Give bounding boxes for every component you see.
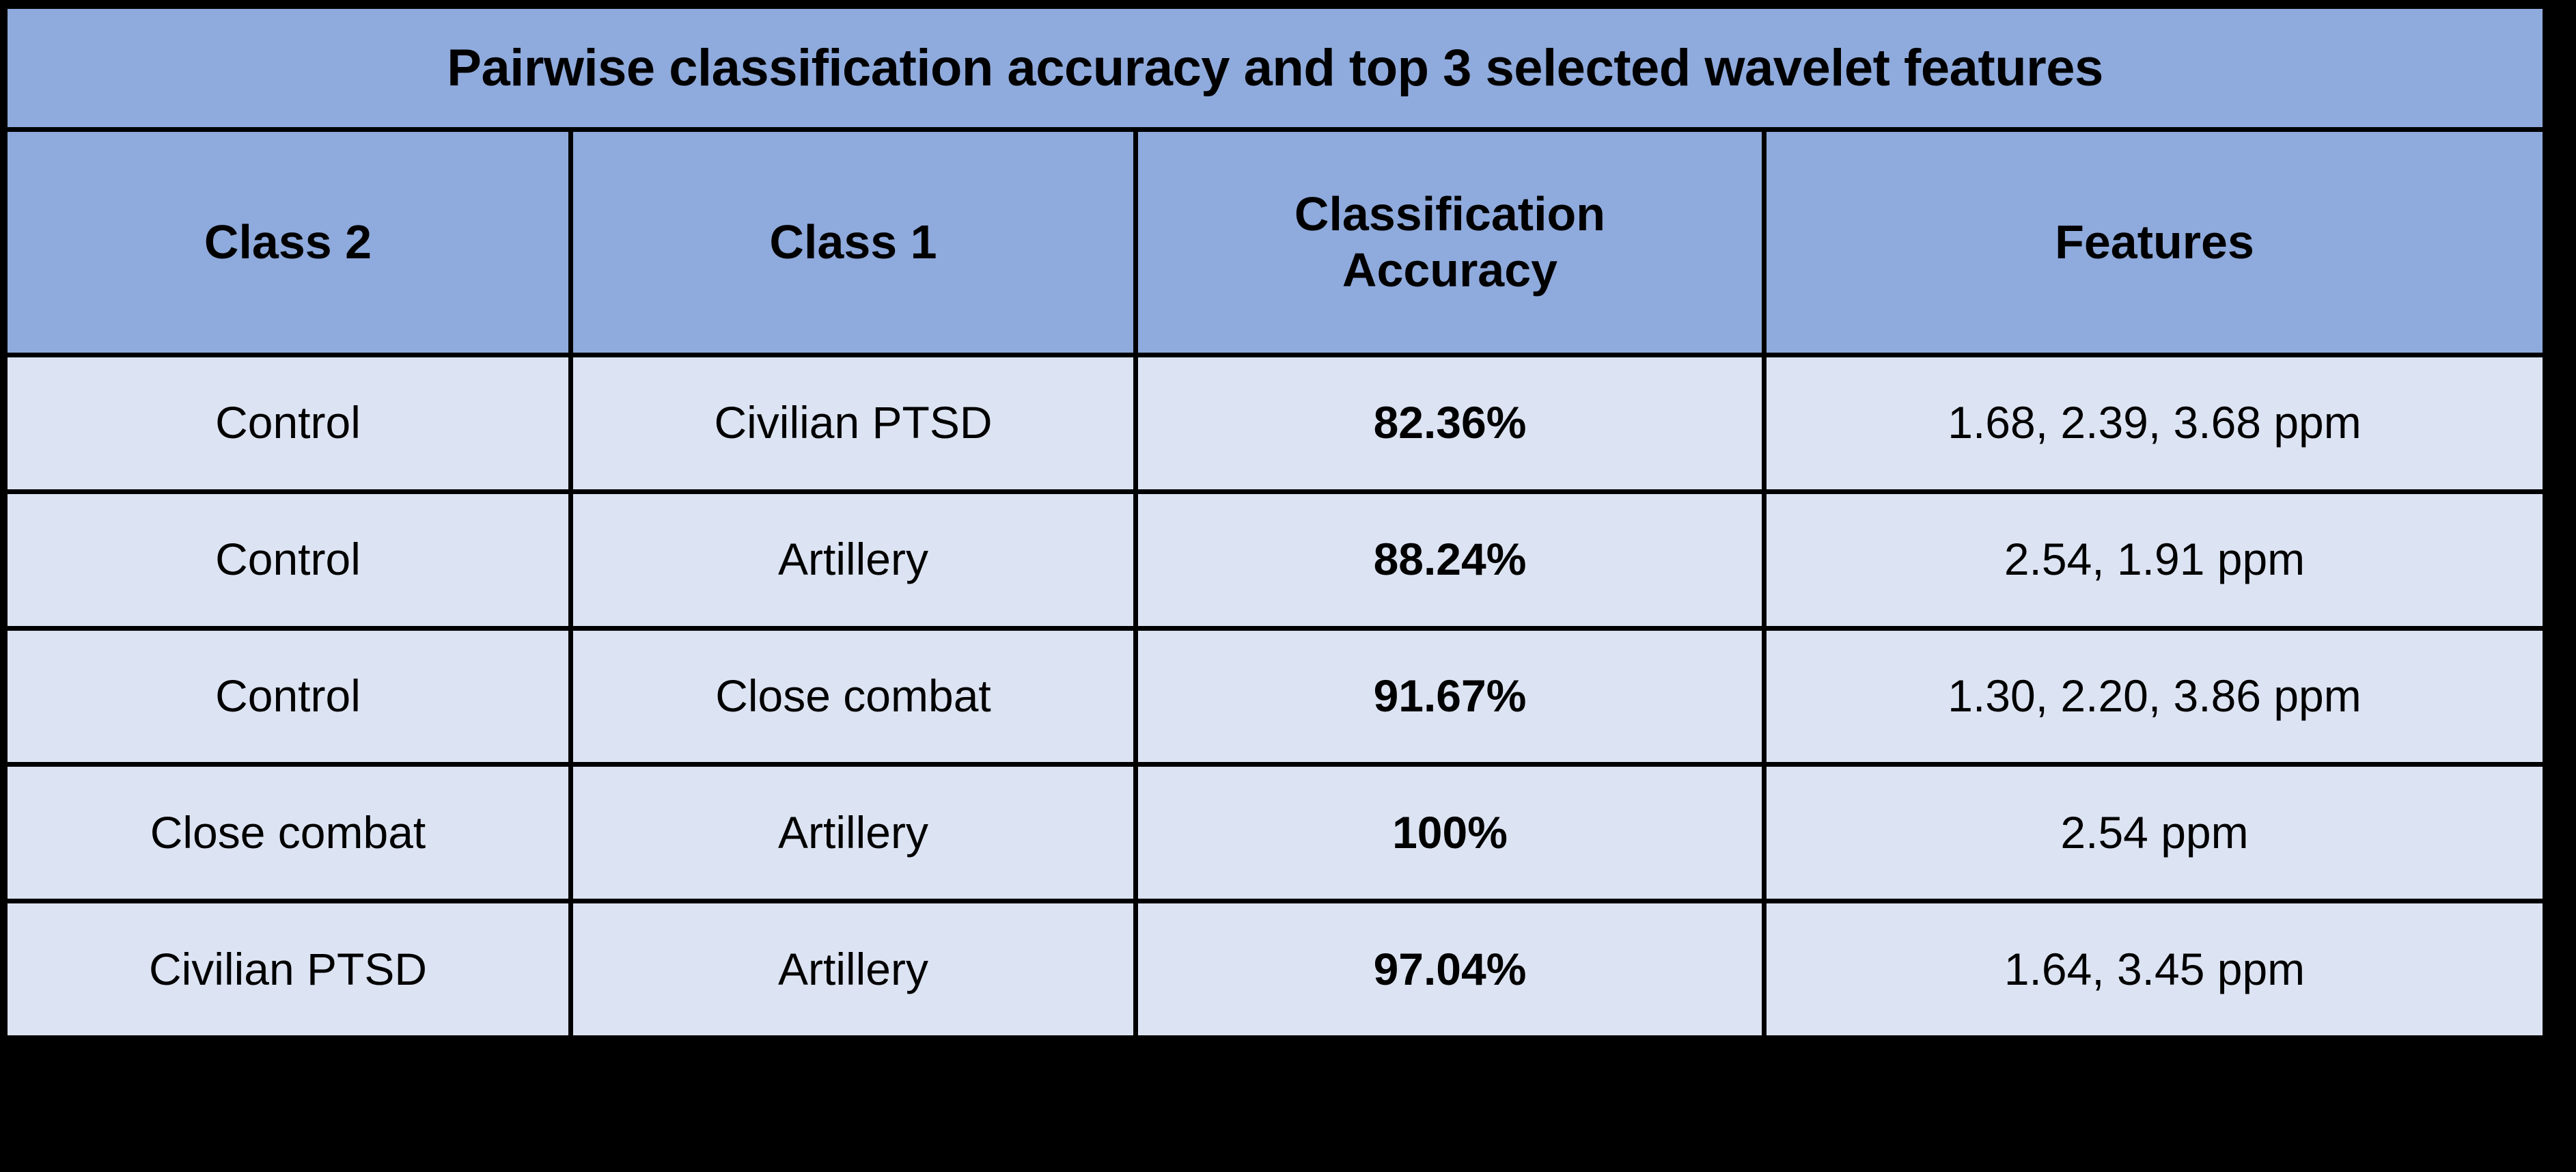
pairwise-accuracy-table: Pairwise classification accuracy and top… [3, 4, 2547, 1040]
cell-features: 1.64, 3.45 ppm [1764, 901, 2545, 1038]
cell-accuracy: 82.36% [1136, 355, 1764, 492]
screenshot-canvas: Pairwise classification accuracy and top… [0, 0, 2576, 1172]
cell-class1: Artillery [571, 765, 1136, 901]
cell-class1: Close combat [571, 628, 1136, 765]
cell-class1: Artillery [571, 901, 1136, 1038]
table-head: Pairwise classification accuracy and top… [5, 7, 2545, 355]
cell-accuracy: 100% [1136, 765, 1764, 901]
column-header-features: Features [1764, 130, 2545, 355]
column-header-class2: Class 2 [5, 130, 571, 355]
cell-features: 2.54, 1.91 ppm [1764, 491, 2545, 628]
cell-class2: Civilian PTSD [5, 901, 571, 1038]
cell-features: 2.54 ppm [1764, 765, 2545, 901]
cell-accuracy: 97.04% [1136, 901, 1764, 1038]
cell-class2: Control [5, 628, 571, 765]
cell-class2: Control [5, 355, 571, 492]
column-header-accuracy-line1: Classification [1294, 187, 1605, 241]
cell-class1: Civilian PTSD [571, 355, 1136, 492]
table-container: Pairwise classification accuracy and top… [3, 4, 2543, 1040]
cell-features: 1.68, 2.39, 3.68 ppm [1764, 355, 2545, 492]
cell-accuracy: 88.24% [1136, 491, 1764, 628]
title-row: Pairwise classification accuracy and top… [5, 7, 2545, 130]
column-header-class1: Class 1 [571, 130, 1136, 355]
table-row: Control Artillery 88.24% 2.54, 1.91 ppm [5, 491, 2545, 628]
table-row: Civilian PTSD Artillery 97.04% 1.64, 3.4… [5, 901, 2545, 1038]
table-title: Pairwise classification accuracy and top… [5, 7, 2545, 130]
column-header-accuracy: Classification Accuracy [1136, 130, 1764, 355]
column-header-accuracy-line2: Accuracy [1342, 243, 1557, 297]
cell-class2: Close combat [5, 765, 571, 901]
cell-features: 1.30, 2.20, 3.86 ppm [1764, 628, 2545, 765]
cell-accuracy: 91.67% [1136, 628, 1764, 765]
table-row: Control Civilian PTSD 82.36% 1.68, 2.39,… [5, 355, 2545, 492]
cell-class2: Control [5, 491, 571, 628]
table-row: Control Close combat 91.67% 1.30, 2.20, … [5, 628, 2545, 765]
table-body: Control Civilian PTSD 82.36% 1.68, 2.39,… [5, 355, 2545, 1038]
header-row: Class 2 Class 1 Classification Accuracy … [5, 130, 2545, 355]
table-row: Close combat Artillery 100% 2.54 ppm [5, 765, 2545, 901]
cell-class1: Artillery [571, 491, 1136, 628]
